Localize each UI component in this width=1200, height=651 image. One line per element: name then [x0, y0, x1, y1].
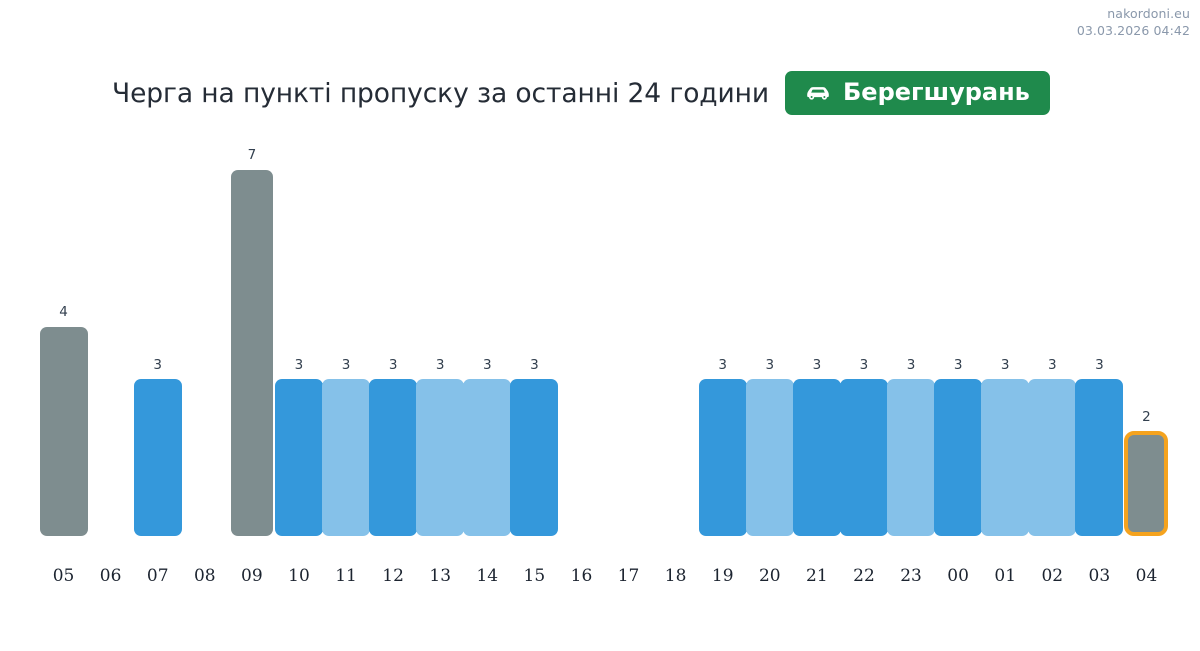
bar-rect — [887, 379, 935, 536]
bar-value-label: 3 — [153, 359, 162, 373]
bar-07[interactable]: 3 — [134, 130, 182, 536]
bar-15[interactable]: 3 — [510, 130, 558, 536]
bar-00[interactable]: 3 — [934, 130, 982, 536]
bar-rect — [1124, 431, 1168, 536]
bar-17[interactable] — [605, 130, 653, 536]
bar-rect — [510, 379, 558, 536]
bar-03[interactable]: 3 — [1075, 130, 1123, 536]
bar-value-label: 2 — [1142, 411, 1151, 425]
bar-18[interactable] — [652, 130, 700, 536]
x-tick-20: 20 — [746, 566, 794, 586]
bar-value-label: 3 — [765, 359, 774, 373]
bar-value-label: 3 — [907, 359, 916, 373]
bar-06[interactable] — [87, 130, 135, 536]
bar-20[interactable]: 3 — [746, 130, 794, 536]
bar-11[interactable]: 3 — [322, 130, 370, 536]
x-tick-16: 16 — [557, 566, 605, 586]
bar-rect — [463, 379, 511, 536]
x-tick-10: 10 — [275, 566, 323, 586]
x-tick-04: 04 — [1122, 566, 1170, 586]
x-tick-03: 03 — [1075, 566, 1123, 586]
bar-value-label: 3 — [530, 359, 539, 373]
bar-02[interactable]: 3 — [1028, 130, 1076, 536]
x-tick-11: 11 — [322, 566, 370, 586]
bar-01[interactable]: 3 — [981, 130, 1029, 536]
x-tick-21: 21 — [793, 566, 841, 586]
bar-chart: 4373333333333333332 05060708091011121314… — [0, 0, 1200, 651]
bar-value-label: 4 — [59, 306, 68, 320]
bar-19[interactable]: 3 — [699, 130, 747, 536]
bar-value-label: 3 — [1095, 359, 1104, 373]
bar-08[interactable] — [181, 130, 229, 536]
bar-value-label: 3 — [1048, 359, 1057, 373]
bar-rect — [275, 379, 323, 536]
bar-21[interactable]: 3 — [793, 130, 841, 536]
bar-value-label: 3 — [483, 359, 492, 373]
bar-rect — [322, 379, 370, 536]
x-tick-14: 14 — [463, 566, 511, 586]
x-tick-18: 18 — [652, 566, 700, 586]
x-tick-15: 15 — [510, 566, 558, 586]
x-tick-05: 05 — [40, 566, 88, 586]
bar-rect — [369, 379, 417, 536]
x-axis: 0506070809101112131415161718192021222300… — [40, 566, 1170, 596]
x-tick-06: 06 — [87, 566, 135, 586]
bar-14[interactable]: 3 — [463, 130, 511, 536]
bar-value-label: 3 — [718, 359, 727, 373]
bar-10[interactable]: 3 — [275, 130, 323, 536]
bar-13[interactable]: 3 — [416, 130, 464, 536]
bars-layer: 4373333333333333332 — [40, 130, 1170, 536]
x-tick-00: 00 — [934, 566, 982, 586]
bar-value-label: 3 — [389, 359, 398, 373]
bar-value-label: 3 — [860, 359, 869, 373]
x-tick-08: 08 — [181, 566, 229, 586]
bar-16[interactable] — [557, 130, 605, 536]
bar-value-label: 3 — [436, 359, 445, 373]
bar-rect — [1075, 379, 1123, 536]
bar-value-label: 3 — [954, 359, 963, 373]
bar-04[interactable]: 2 — [1122, 130, 1170, 536]
bar-rect — [416, 379, 464, 536]
bar-rect — [231, 170, 273, 536]
bar-value-label: 3 — [342, 359, 351, 373]
bar-rect — [134, 379, 182, 536]
x-tick-19: 19 — [699, 566, 747, 586]
queue-chart-page: nakordoni.eu 03.03.2026 04:42 Черга на п… — [0, 0, 1200, 651]
x-tick-09: 09 — [228, 566, 276, 586]
bar-05[interactable]: 4 — [40, 130, 88, 536]
bar-rect — [746, 379, 794, 536]
bar-value-label: 3 — [295, 359, 304, 373]
bar-22[interactable]: 3 — [840, 130, 888, 536]
x-tick-23: 23 — [887, 566, 935, 586]
bar-23[interactable]: 3 — [887, 130, 935, 536]
bar-value-label: 7 — [248, 149, 257, 163]
bar-rect — [1028, 379, 1076, 536]
x-tick-01: 01 — [981, 566, 1029, 586]
x-tick-12: 12 — [369, 566, 417, 586]
x-tick-02: 02 — [1028, 566, 1076, 586]
bar-rect — [40, 327, 88, 536]
bar-rect — [840, 379, 888, 536]
x-tick-17: 17 — [605, 566, 653, 586]
bar-value-label: 3 — [1001, 359, 1010, 373]
bar-rect — [699, 379, 747, 536]
x-tick-22: 22 — [840, 566, 888, 586]
bar-value-label: 3 — [813, 359, 822, 373]
x-tick-07: 07 — [134, 566, 182, 586]
x-tick-13: 13 — [416, 566, 464, 586]
bar-rect — [981, 379, 1029, 536]
bar-12[interactable]: 3 — [369, 130, 417, 536]
bar-rect — [793, 379, 841, 536]
bar-rect — [934, 379, 982, 536]
bar-09[interactable]: 7 — [228, 130, 276, 536]
